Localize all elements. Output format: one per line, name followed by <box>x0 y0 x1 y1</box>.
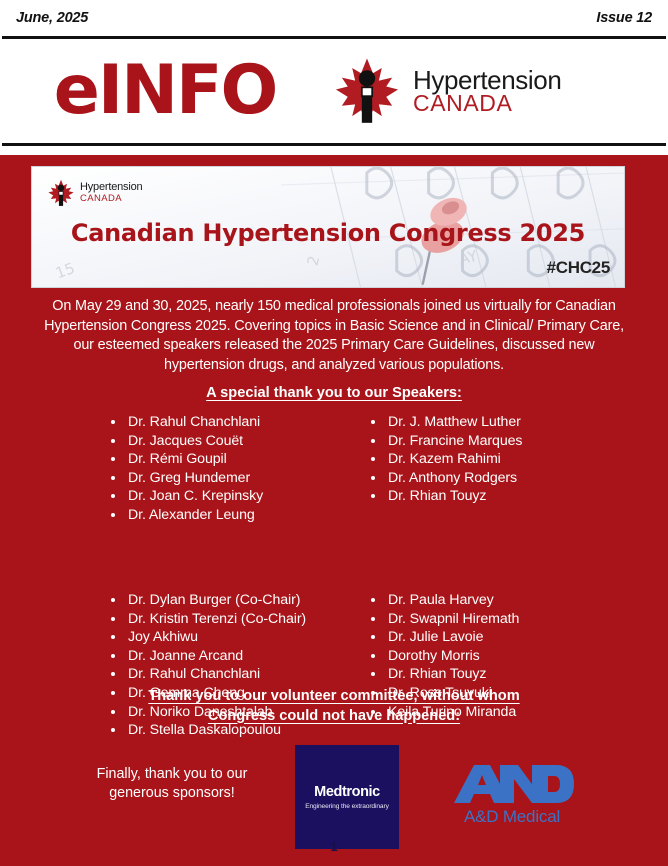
medtronic-tagline: Engineering the extraordinary <box>305 803 389 810</box>
speakers-column-right: Dr. J. Matthew Luther Dr. Francine Marqu… <box>364 413 624 525</box>
list-item: Dr. Rhian Touyz <box>386 487 624 506</box>
sponsor-thanks-text: Finally, thank you to our generous spons… <box>66 765 278 803</box>
list-item: Joy Akhiwu <box>126 628 364 647</box>
list-item: Dr. Ross Tsuyuki <box>386 684 624 703</box>
list-item: Dr. Stella Daskalopoulou <box>126 721 364 740</box>
sponsors-section: Finally, thank you to our generous spons… <box>0 745 668 855</box>
speakers-columns: Dr. Rahul Chanchlani Dr. Jacques Couët D… <box>104 413 624 525</box>
list-item: Dr. Gemma Cheng <box>126 684 364 703</box>
sponsor-thanks-line2: generous sponsors! <box>109 785 235 801</box>
speakers-heading: A special thank you to our Speakers: <box>0 385 668 401</box>
list-item: Dr. Rahul Chanchlani <box>126 665 364 684</box>
banner-title: Canadian Hypertension Congress 2025 <box>32 219 624 247</box>
issue-date: June, 2025 <box>16 10 88 26</box>
list-item: Dr. Rhian Touyz <box>386 665 624 684</box>
banner-hypertension-canada-logo: Hypertension CANADA <box>46 178 142 208</box>
list-item: Keila Turino Miranda <box>386 703 624 722</box>
list-item: Dr. Noriko Daneshtalab <box>126 703 364 722</box>
issue-number: Issue 12 <box>596 10 652 26</box>
list-item: Dr. Greg Hundemer <box>126 469 364 488</box>
page-number: 1 <box>0 839 668 854</box>
volunteers-column-right: Dr. Paula Harvey Dr. Swapnil Hiremath Dr… <box>364 591 624 740</box>
banner-org-name-bottom: CANADA <box>80 194 142 204</box>
list-item: Dr. Dylan Burger (Co-Chair) <box>126 591 364 610</box>
speakers-column-left: Dr. Rahul Chanchlani Dr. Jacques Couët D… <box>104 413 364 525</box>
banner-hashtag: #CHC25 <box>547 258 610 278</box>
org-name-bottom: CANADA <box>413 92 561 115</box>
and-logo-icon <box>448 763 576 805</box>
volunteers-columns: Dr. Dylan Burger (Co-Chair) Dr. Kristin … <box>104 591 624 740</box>
banner-maple-leaf-icon <box>46 178 76 208</box>
maple-leaf-icon <box>330 54 404 128</box>
hypertension-canada-wordmark: Hypertension CANADA <box>413 67 561 115</box>
list-item: Dr. Rahul Chanchlani <box>126 413 364 432</box>
list-item: Dorothy Morris <box>386 647 624 666</box>
medtronic-logo: Medtronic Engineering the extraordinary <box>295 745 399 849</box>
list-item: Dr. Alexander Leung <box>126 506 364 525</box>
list-item: Dr. Joanne Arcand <box>126 647 364 666</box>
list-item: Dr. Kristin Terenzi (Co-Chair) <box>126 610 364 629</box>
list-item: Dr. Swapnil Hiremath <box>386 610 624 629</box>
logo-row: eINFO Hypertension CANADA <box>0 39 668 143</box>
congress-banner: 15 2 AY Hypertension CANADA <box>31 166 625 288</box>
list-item: Dr. Julie Lavoie <box>386 628 624 647</box>
hypertension-canada-logo: Hypertension CANADA <box>330 54 561 128</box>
list-item: Dr. Joan C. Krepinsky <box>126 487 364 506</box>
einfo-wordmark: eINFO <box>54 57 277 125</box>
intro-paragraph: On May 29 and 30, 2025, nearly 150 medic… <box>34 297 634 375</box>
header-divider-bottom <box>2 143 666 146</box>
medtronic-name: Medtronic <box>314 784 380 800</box>
list-item: Dr. Jacques Couët <box>126 432 364 451</box>
newsletter-body: 15 2 AY Hypertension CANADA <box>0 155 668 866</box>
masthead-bar: June, 2025 Issue 12 <box>0 0 668 36</box>
list-item: Dr. Francine Marques <box>386 432 624 451</box>
list-item: Dr. Kazem Rahimi <box>386 450 624 469</box>
einfo-wordmark-wrap: eINFO <box>0 57 330 125</box>
speakers-list-left: Dr. Rahul Chanchlani Dr. Jacques Couët D… <box>104 413 364 525</box>
list-item: Dr. Rémi Goupil <box>126 450 364 469</box>
and-medical-logo: A&D Medical <box>432 763 592 827</box>
sponsor-thanks-line1: Finally, thank you to our <box>97 766 248 782</box>
and-medical-name: A&D Medical <box>432 807 592 827</box>
speakers-list-right: Dr. J. Matthew Luther Dr. Francine Marqu… <box>364 413 624 506</box>
list-item: Dr. J. Matthew Luther <box>386 413 624 432</box>
banner-logo-wordmark: Hypertension CANADA <box>80 182 142 204</box>
volunteers-list-left: Dr. Dylan Burger (Co-Chair) Dr. Kristin … <box>104 591 364 740</box>
volunteers-list-right: Dr. Paula Harvey Dr. Swapnil Hiremath Dr… <box>364 591 624 721</box>
volunteers-column-left: Dr. Dylan Burger (Co-Chair) Dr. Kristin … <box>104 591 364 740</box>
list-item: Dr. Anthony Rodgers <box>386 469 624 488</box>
list-item: Dr. Paula Harvey <box>386 591 624 610</box>
